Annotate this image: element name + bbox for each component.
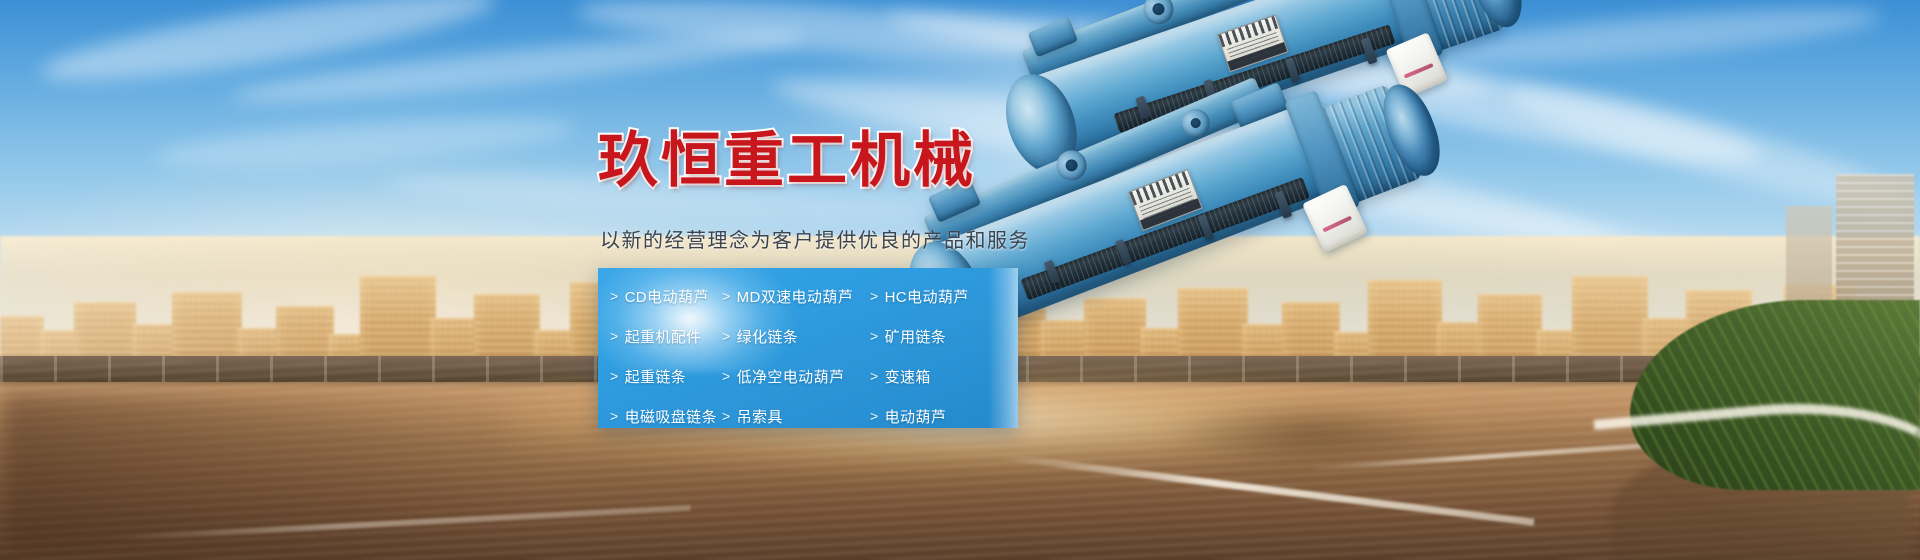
product-link-label: MD双速电动葫芦 xyxy=(737,286,854,307)
hero-banner: 玖恒重工机械 以新的经营理念为客户提供优良的产品和服务 > CD电动葫芦 > M… xyxy=(0,0,1920,560)
page-title: 玖恒重工机械 xyxy=(598,130,976,191)
product-link-label: 矿用链条 xyxy=(885,326,947,347)
chevron-right-icon: > xyxy=(870,289,879,303)
chevron-right-icon: > xyxy=(722,289,731,303)
product-link-hc-hoist[interactable]: > HC电动葫芦 xyxy=(870,286,1018,307)
product-link-slings[interactable]: > 吊索具 xyxy=(722,406,870,427)
product-link-electric-hoist[interactable]: > 电动葫芦 xyxy=(870,406,1018,427)
chevron-right-icon: > xyxy=(722,329,731,343)
chevron-right-icon: > xyxy=(610,329,619,343)
product-link-label: CD电动葫芦 xyxy=(625,286,709,307)
product-link-label: 起重机配件 xyxy=(625,326,702,347)
distant-tower xyxy=(1836,174,1914,312)
chevron-right-icon: > xyxy=(722,369,731,383)
product-link-greening-chain[interactable]: > 绿化链条 xyxy=(722,326,870,347)
product-link-lifting-chain[interactable]: > 起重链条 xyxy=(610,366,722,387)
product-link-low-headroom-hoist[interactable]: > 低净空电动葫芦 xyxy=(722,366,870,387)
product-link-magnetic-chuck-chain[interactable]: > 电磁吸盘链条 xyxy=(610,406,722,427)
chevron-right-icon: > xyxy=(870,369,879,383)
product-link-label: 低净空电动葫芦 xyxy=(737,366,845,387)
page-title-text: 玖恒重工机械 xyxy=(598,127,976,194)
chevron-right-icon: > xyxy=(870,409,879,423)
chevron-right-icon: > xyxy=(610,289,619,303)
product-link-label: 起重链条 xyxy=(625,366,687,387)
chevron-right-icon: > xyxy=(610,409,619,423)
product-photo-hoists xyxy=(1040,58,1800,488)
product-link-label: 电磁吸盘链条 xyxy=(625,406,717,427)
product-link-label: HC电动葫芦 xyxy=(885,286,969,307)
chevron-right-icon: > xyxy=(610,369,619,383)
product-link-crane-parts[interactable]: > 起重机配件 xyxy=(610,326,722,347)
product-link-mining-chain[interactable]: > 矿用链条 xyxy=(870,326,1018,347)
chevron-right-icon: > xyxy=(870,329,879,343)
road-shadow-left xyxy=(0,392,653,560)
product-link-gearbox[interactable]: > 变速箱 xyxy=(870,366,1018,387)
product-category-panel: > CD电动葫芦 > MD双速电动葫芦 > HC电动葫芦 > 起重机配件 > 绿… xyxy=(598,268,1018,428)
product-link-cd-hoist[interactable]: > CD电动葫芦 xyxy=(610,286,722,307)
chevron-right-icon: > xyxy=(722,409,731,423)
product-link-label: 变速箱 xyxy=(885,366,931,387)
product-link-label: 吊索具 xyxy=(737,406,783,427)
product-category-grid: > CD电动葫芦 > MD双速电动葫芦 > HC电动葫芦 > 起重机配件 > 绿… xyxy=(598,268,1018,428)
product-link-label: 绿化链条 xyxy=(737,326,799,347)
product-link-md-dual-speed-hoist[interactable]: > MD双速电动葫芦 xyxy=(722,286,870,307)
product-link-label: 电动葫芦 xyxy=(885,406,947,427)
page-subtitle: 以新的经营理念为客户提供优良的产品和服务 xyxy=(600,224,1030,253)
